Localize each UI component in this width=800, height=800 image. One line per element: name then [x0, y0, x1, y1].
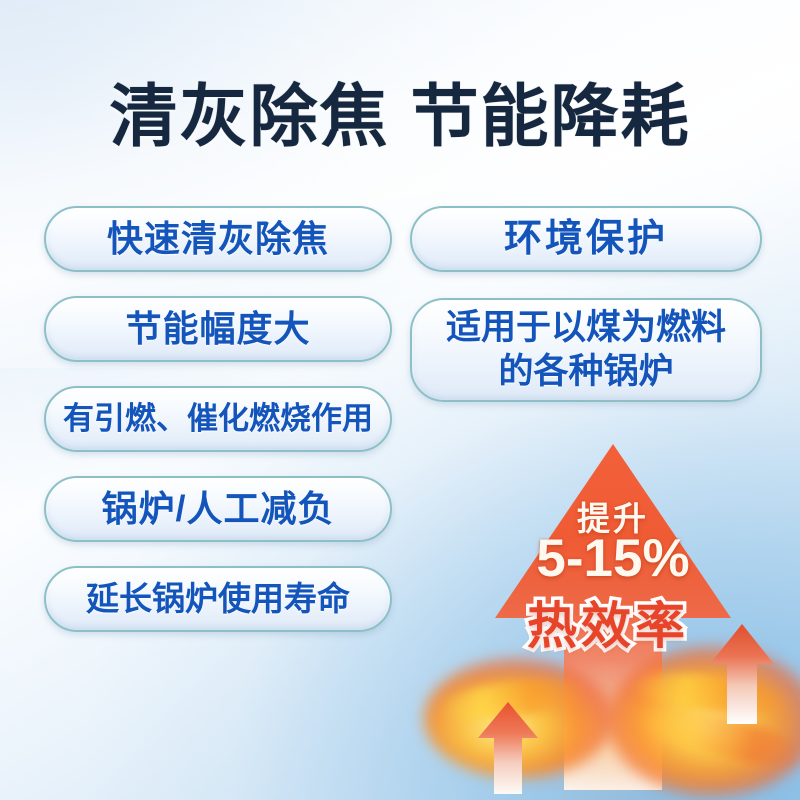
feature-pill-catalytic-combustion[interactable]: 有引燃、催化燃烧作用 — [44, 386, 392, 452]
feature-label: 节能幅度大 — [125, 309, 310, 349]
metric-label: 热效率 — [448, 598, 768, 654]
feature-label: 有引燃、催化燃烧作用 — [63, 399, 373, 439]
feature-label-multiline: 适用于以煤为燃料 的各种锅炉 — [446, 306, 726, 394]
feature-label-line1: 适用于以煤为燃料 — [446, 308, 726, 347]
feature-column-left: 快速清灰除焦 节能幅度大 有引燃、催化燃烧作用 锅炉/人工减负 延长锅炉使用寿命 — [44, 206, 392, 656]
feature-label: 锅炉/人工减负 — [101, 489, 334, 529]
feature-column-right: 环境保护 适用于以煤为燃料 的各种锅炉 — [410, 206, 762, 402]
thermal-efficiency-graphic: 提升 5-15% — [420, 430, 800, 800]
feature-pill-extend-boiler-life[interactable]: 延长锅炉使用寿命 — [44, 566, 392, 632]
feature-label: 环境保护 — [504, 218, 668, 260]
feature-pill-coal-fired-boilers[interactable]: 适用于以煤为燃料 的各种锅炉 — [410, 298, 762, 402]
small-up-arrow-left-icon — [476, 700, 540, 796]
feature-label-line2: 的各种锅炉 — [498, 352, 673, 391]
page-title: 清灰除焦 节能降耗 — [0, 76, 800, 158]
poster-canvas: 清灰除焦 节能降耗 快速清灰除焦 节能幅度大 有引燃、催化燃烧作用 锅炉/人工减… — [0, 0, 800, 800]
feature-pill-energy-saving[interactable]: 节能幅度大 — [44, 296, 392, 362]
feature-pill-environmental-protection[interactable]: 环境保护 — [410, 206, 762, 272]
feature-pill-fast-cleaning[interactable]: 快速清灰除焦 — [44, 206, 392, 272]
feature-label: 快速清灰除焦 — [107, 219, 329, 259]
feature-pill-labor-reduction[interactable]: 锅炉/人工减负 — [44, 476, 392, 542]
feature-label: 延长锅炉使用寿命 — [86, 579, 350, 619]
